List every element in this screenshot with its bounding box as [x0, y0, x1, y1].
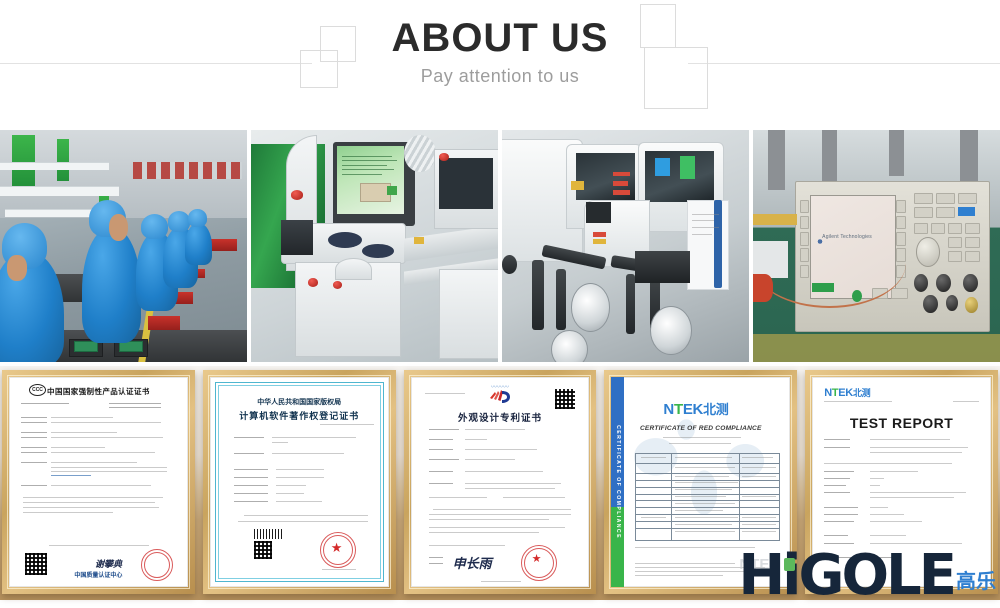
higole-wordmark-i: i — [782, 554, 798, 598]
qr-code — [254, 541, 272, 559]
ntek-brand-cn: 北测 — [703, 402, 728, 417]
compliance-side-band: CERTIFICATE OF COMPLIANCE — [611, 377, 624, 587]
assembly-line-photo — [0, 130, 247, 362]
signature: 申长雨 — [453, 553, 492, 572]
side-band-text: CERTIFICATE OF COMPLIANCE — [615, 425, 621, 539]
page-title: ABOUT US — [0, 14, 1000, 62]
software-copyright-certificate[interactable]: 中华人民共和国国家版权局 计算机软件著作权登记证书 ★ — [203, 370, 396, 594]
copyright-title-line2: 计算机软件著作权登记证书 — [210, 409, 389, 422]
qr-code — [555, 389, 575, 409]
design-patent-certificate[interactable]: 〰〰〰 外观设计专利证书 — [404, 370, 597, 594]
star-icon: ★ — [532, 554, 542, 565]
test-report-title: TEST REPORT — [812, 415, 991, 431]
ccc-title: 中国国家强制性产品认证证书 — [9, 386, 188, 397]
pick-and-place-machine-photo — [502, 130, 749, 362]
cqc-issuer: 中国质量认证中心 — [9, 570, 188, 579]
higole-wordmark-rest: GOLE — [798, 554, 954, 598]
higole-wordmark-cn: 高乐 — [956, 566, 996, 598]
factory-photo-strip: Agilent Technologies — [0, 130, 1000, 362]
page-number-line — [953, 401, 979, 402]
page-subtitle: Pay attention to us — [0, 64, 1000, 88]
compliance-title: CERTIFICATE OF RED COMPLIANCE — [611, 425, 790, 432]
footer-line — [635, 563, 735, 564]
star-icon: ★ — [331, 541, 343, 554]
about-us-page: ABOUT US Pay attention to us — [0, 0, 1000, 600]
ccc-product-certification[interactable]: CCC 中国国家强制性产品认证证书 — [2, 370, 195, 594]
aoi-inspection-machine-photo — [251, 130, 498, 362]
higole-wordmark-h: H — [738, 554, 782, 598]
standards-table — [635, 453, 780, 541]
agilent-test-equipment-photo: Agilent Technologies — [753, 130, 1000, 362]
higole-logo: HiGOLE 高乐 — [738, 554, 996, 598]
patent-title: 外观设计专利证书 — [411, 410, 590, 424]
signature: 谢攀典 — [95, 557, 122, 570]
copyright-title-line1: 中华人民共和国国家版权局 — [210, 397, 389, 407]
header-title-block: ABOUT US Pay attention to us — [0, 14, 1000, 88]
ntek-brand: NTEK北测 — [663, 399, 728, 418]
ntek-brand: NTEK北测 — [824, 386, 870, 399]
page-header: ABOUT US Pay attention to us — [0, 0, 1000, 122]
barcode — [254, 529, 282, 539]
ntek-brand-cn: 北测 — [853, 388, 870, 398]
higole-i-dot — [784, 558, 795, 571]
cnipa-emblem — [488, 389, 512, 405]
